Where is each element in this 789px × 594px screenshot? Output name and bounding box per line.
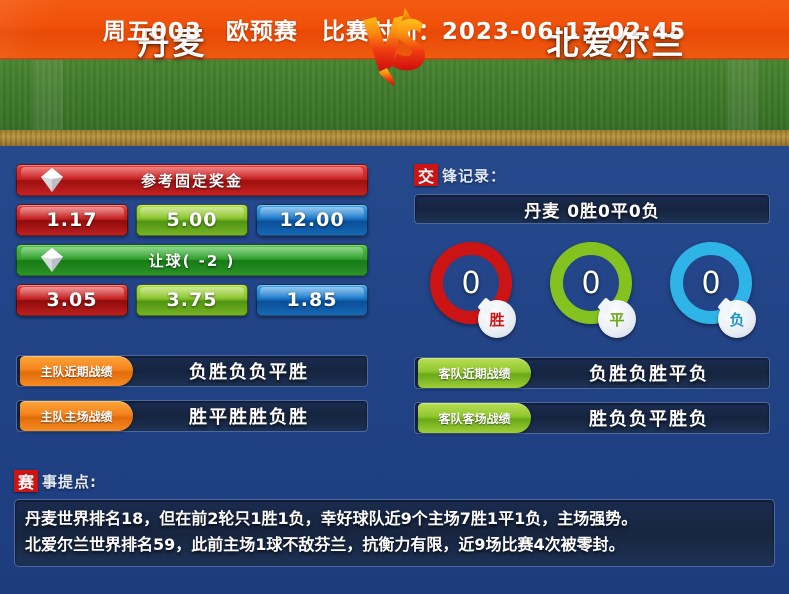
odd-fixed-draw[interactable]: 5.00 — [136, 204, 248, 236]
head-to-head-panel: 交 锋记录： 丹麦 0胜0平0负 0 胜 0 — [414, 164, 770, 434]
away-recent-form-label: 客队近期战绩 — [418, 358, 531, 388]
odd-fixed-away[interactable]: 12.00 — [256, 204, 368, 236]
match-preview-card: 周五003 欧预赛 比赛时间：2023-06-17 02:45 丹麦 北爱尔兰 — [0, 0, 789, 594]
odd-value: 5.00 — [167, 209, 218, 231]
ring-value: 0 — [701, 266, 720, 301]
away-venue-form-row: 客队客场战绩 胜负负平胜负 — [414, 402, 770, 434]
diamond-gem-icon — [39, 167, 65, 193]
ring-tag-text: 负 — [729, 309, 744, 330]
h2h-ring-win: 0 胜 — [430, 242, 516, 342]
handicap-header: 让球( -2 ) — [16, 244, 368, 276]
analysis-heading: 赛 事提点: — [14, 470, 775, 492]
odd-handicap-home[interactable]: 3.05 — [16, 284, 128, 316]
home-venue-form-row: 主队主场战绩 胜平胜胜负胜 — [16, 400, 368, 432]
h2h-heading-text: 锋记录： — [442, 165, 506, 186]
ring-tag-win: 胜 — [478, 300, 516, 338]
home-venue-form-value: 胜平胜胜负胜 — [136, 400, 362, 432]
away-recent-form-value: 负胜负胜平负 — [534, 357, 764, 389]
handicap-odds-row: 3.05 3.75 1.85 — [16, 284, 368, 316]
analysis-section: 赛 事提点: 丹麦世界排名18，但在前2轮只1胜1负，幸好球队近9个主场7胜1平… — [14, 470, 775, 567]
ring-value: 0 — [461, 266, 480, 301]
analysis-badge-char: 赛 — [14, 470, 38, 492]
pill-text: 客队近期战绩 — [438, 365, 510, 382]
fixed-odds-title: 参考固定奖金 — [141, 170, 243, 191]
h2h-heading: 交 锋记录： — [414, 164, 770, 186]
odd-fixed-home[interactable]: 1.17 — [16, 204, 128, 236]
pill-text: 主队主场战绩 — [40, 408, 112, 425]
h2h-ring-draw: 0 平 — [550, 242, 636, 342]
ring-tag-text: 胜 — [489, 309, 504, 330]
home-recent-form-label: 主队近期战绩 — [20, 356, 133, 386]
away-recent-form-row: 客队近期战绩 负胜负胜平负 — [414, 357, 770, 389]
h2h-summary: 丹麦 0胜0平0负 — [414, 194, 770, 224]
odd-value: 12.00 — [279, 209, 344, 231]
ring-tag-lose: 负 — [718, 300, 756, 338]
fixed-odds-row: 1.17 5.00 12.00 — [16, 204, 368, 236]
odd-handicap-draw[interactable]: 3.75 — [136, 284, 248, 316]
odd-handicap-away[interactable]: 1.85 — [256, 284, 368, 316]
body-area: 参考固定奖金 1.17 5.00 12.00 — [0, 146, 789, 594]
fixed-odds-header: 参考固定奖金 — [16, 164, 368, 196]
h2h-ring-lose: 0 负 — [670, 242, 756, 342]
odd-value: 1.17 — [47, 209, 98, 231]
away-venue-form-label: 客队客场战绩 — [418, 403, 531, 433]
h2h-rings: 0 胜 0 平 0 — [414, 242, 770, 344]
versus-icon — [349, 2, 441, 88]
ring-tag-text: 平 — [609, 309, 624, 330]
handicap-title: 让球( -2 ) — [149, 250, 236, 271]
home-recent-form-row: 主队近期战绩 负胜负负平胜 — [16, 355, 368, 387]
ring-tag-draw: 平 — [598, 300, 636, 338]
analysis-line-2: 北爱尔兰世界排名59，此前主场1球不敌芬兰，抗衡力有限，近9场比赛4次被零封。 — [25, 532, 764, 558]
diamond-gem-icon — [39, 247, 65, 273]
pitch-dirt-strip — [0, 130, 789, 146]
h2h-badge-char: 交 — [414, 164, 438, 186]
home-venue-form-label: 主队主场战绩 — [20, 401, 133, 431]
analysis-line-1: 丹麦世界排名18，但在前2轮只1胜1负，幸好球队近9个主场7胜1平1负，主场强势… — [25, 506, 764, 532]
odd-value: 1.85 — [287, 289, 338, 311]
pill-text: 主队近期战绩 — [40, 363, 112, 380]
away-venue-form-value: 胜负负平胜负 — [534, 402, 764, 434]
odd-value: 3.05 — [47, 289, 98, 311]
pill-text: 客队客场战绩 — [438, 410, 510, 427]
odds-panel: 参考固定奖金 1.17 5.00 12.00 — [16, 164, 368, 432]
home-recent-form-value: 负胜负负平胜 — [136, 355, 362, 387]
analysis-heading-text: 事提点: — [42, 471, 97, 492]
odd-value: 3.75 — [167, 289, 218, 311]
ring-value: 0 — [581, 266, 600, 301]
analysis-box: 丹麦世界排名18，但在前2轮只1胜1负，幸好球队近9个主场7胜1平1负，主场强势… — [14, 499, 775, 567]
